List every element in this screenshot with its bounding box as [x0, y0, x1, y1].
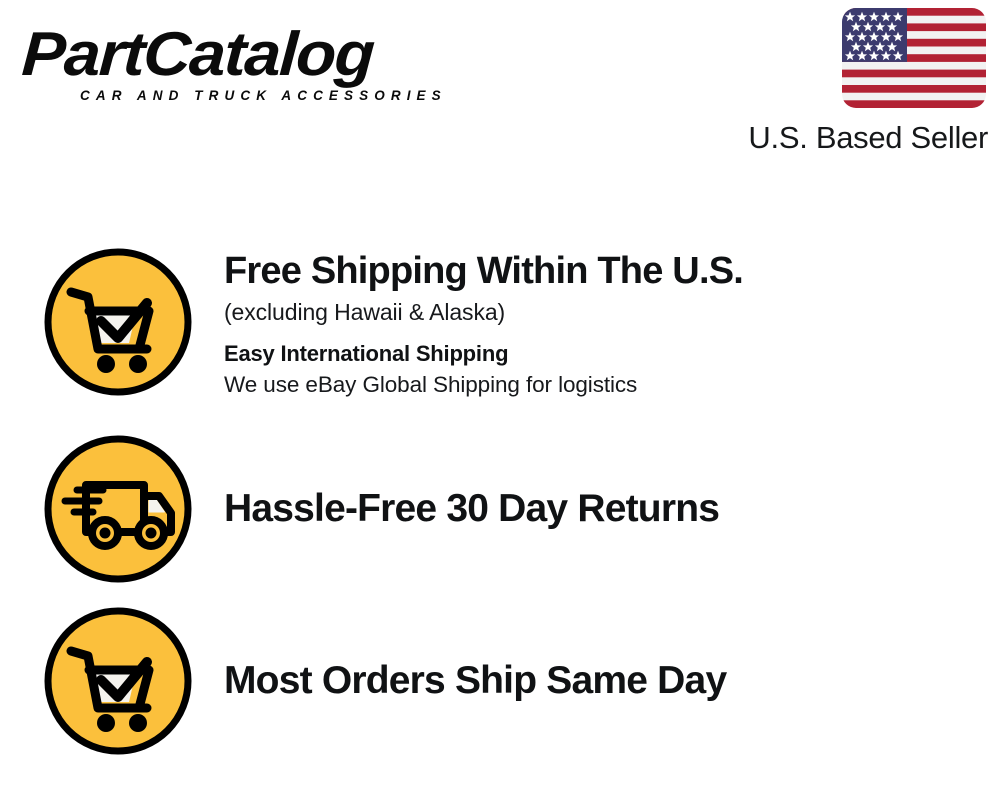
feature-text: Most Orders Ship Same Day: [224, 659, 1000, 703]
feature-text: Hassle-Free 30 Day Returns: [224, 487, 1000, 531]
feature-text: Free Shipping Within The U.S. (excluding…: [224, 249, 1000, 400]
feature-subtitle: (excluding Hawaii & Alaska): [224, 297, 1000, 327]
us-flag-icon: [842, 8, 986, 108]
seller-label: U.S. Based Seller: [718, 119, 988, 157]
feature-list: Free Shipping Within The U.S. (excluding…: [0, 233, 1000, 767]
feature-row: Most Orders Ship Same Day: [0, 595, 1000, 767]
seller-badge: U.S. Based Seller: [718, 8, 988, 157]
feature-extra-note: We use eBay Global Shipping for logistic…: [224, 370, 1000, 400]
feature-title: Free Shipping Within The U.S.: [224, 249, 1000, 293]
brand-logo: PartCatalog CAR AND TRUCK ACCESSORIES: [22, 22, 492, 117]
brand-wordmark: PartCatalog: [20, 22, 522, 88]
feature-title: Hassle-Free 30 Day Returns: [224, 487, 1000, 531]
shopping-cart-check-icon: [41, 604, 195, 758]
shopping-cart-check-icon: [41, 245, 195, 399]
feature-row: Free Shipping Within The U.S. (excluding…: [0, 233, 1000, 423]
feature-title: Most Orders Ship Same Day: [224, 659, 1000, 703]
feature-extra-title: Easy International Shipping: [224, 339, 1000, 369]
banner-page: PartCatalog CAR AND TRUCK ACCESSORIES: [0, 0, 1000, 800]
delivery-truck-icon: [41, 432, 195, 586]
brand-tagline: CAR AND TRUCK ACCESSORIES: [22, 88, 492, 103]
feature-row: Hassle-Free 30 Day Returns: [0, 423, 1000, 595]
